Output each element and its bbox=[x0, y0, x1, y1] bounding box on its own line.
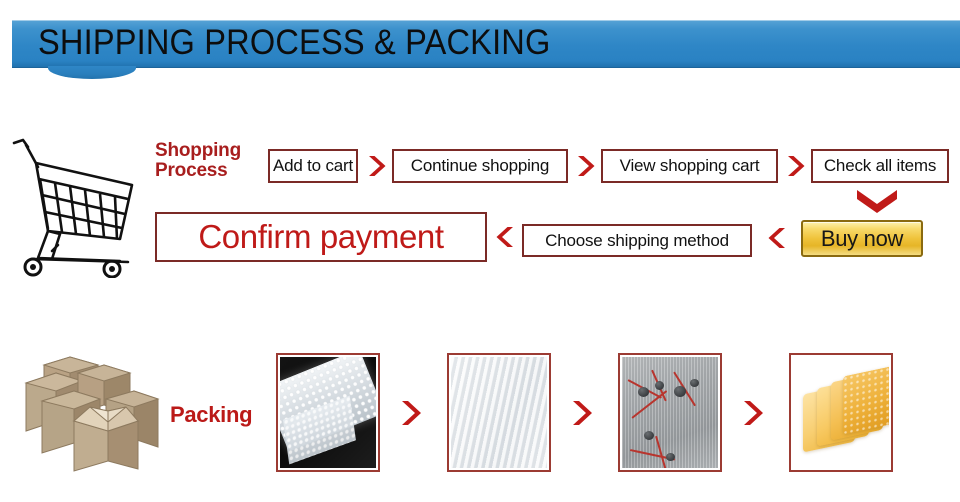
step-add-to-cart[interactable]: Add to cart bbox=[268, 149, 358, 183]
chevron-right-icon bbox=[784, 153, 806, 179]
wrapped-components-photo bbox=[618, 353, 722, 472]
shopping-process-label-line1: Shopping bbox=[155, 141, 265, 161]
step-choose-shipping-method[interactable]: Choose shipping method bbox=[522, 224, 752, 257]
chevron-right-icon bbox=[365, 153, 387, 179]
step-continue-shopping-label: Continue shopping bbox=[411, 156, 549, 176]
shopping-process-label: Shopping Process bbox=[155, 141, 265, 181]
chevron-right-icon bbox=[739, 398, 765, 428]
step-choose-shipping-method-label: Choose shipping method bbox=[545, 231, 729, 251]
chevron-right-icon bbox=[397, 398, 423, 428]
chevron-left-icon bbox=[767, 225, 789, 251]
step-check-all-items[interactable]: Check all items bbox=[811, 149, 949, 183]
header-banner: SHIPPING PROCESS & PACKING bbox=[12, 20, 960, 68]
step-add-to-cart-label: Add to cart bbox=[273, 156, 353, 176]
shopping-process-section: Shopping Process Add to cart Continue sh… bbox=[0, 120, 960, 290]
shopping-cart-icon bbox=[8, 133, 140, 278]
step-confirm-payment-label: Confirm payment bbox=[198, 218, 443, 256]
buy-now-label: Buy now bbox=[821, 226, 903, 252]
shopping-process-label-line2: Process bbox=[155, 161, 265, 181]
bubble-wrap-roll-photo bbox=[276, 353, 380, 472]
step-continue-shopping[interactable]: Continue shopping bbox=[392, 149, 568, 183]
foam-wrap-image bbox=[451, 357, 547, 468]
chevron-right-icon bbox=[568, 398, 594, 428]
foam-wrap-sheets-photo bbox=[447, 353, 551, 472]
buy-now-button[interactable]: Buy now bbox=[801, 220, 923, 257]
chevron-left-icon bbox=[495, 224, 517, 250]
step-check-all-items-label: Check all items bbox=[824, 156, 936, 176]
step-view-shopping-cart[interactable]: View shopping cart bbox=[601, 149, 778, 183]
bubble-wrap-image bbox=[280, 357, 376, 468]
wrapped-components-image bbox=[622, 357, 718, 468]
page-title: SHIPPING PROCESS & PACKING bbox=[38, 20, 551, 68]
step-view-shopping-cart-label: View shopping cart bbox=[620, 156, 760, 176]
packing-label: Packing bbox=[170, 402, 252, 428]
step-confirm-payment[interactable]: Confirm payment bbox=[155, 212, 487, 262]
cardboard-boxes-icon bbox=[12, 343, 172, 473]
padded-mailers-photo bbox=[789, 353, 893, 472]
chevron-right-icon bbox=[574, 153, 596, 179]
packing-section: Packing bbox=[0, 340, 960, 502]
padded-mailers-image bbox=[793, 357, 889, 468]
chevron-down-icon bbox=[854, 186, 900, 216]
